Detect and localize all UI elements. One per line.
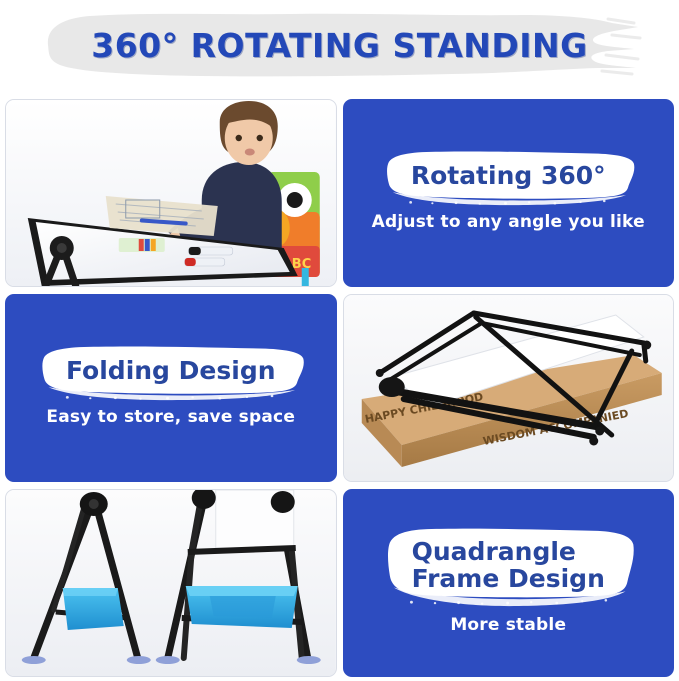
infographic-page: 360° ROTATING STANDING xyxy=(0,0,679,681)
folded-easel-on-carton-photo: HAPPY CHILDHOOD WISDOM ACCOMPANIED xyxy=(344,295,674,481)
text-panel-quadrangle: Quadrangle Frame Design More stable xyxy=(343,489,675,677)
brushstroke-heading-folding: Folding Design xyxy=(50,350,292,393)
photo-panel-child-drawing: ABC xyxy=(5,99,337,287)
brushstroke-heading-rotating: Rotating 360° xyxy=(395,155,622,198)
text-panel-folding: Folding Design Easy to store, save space xyxy=(5,294,337,482)
foot-pad-graphic xyxy=(156,656,180,664)
photo-panel-stands-with-tray xyxy=(5,489,337,677)
crayon-box-graphic xyxy=(119,238,165,252)
foot-pad-graphic xyxy=(127,656,151,664)
panel-subtitle: More stable xyxy=(450,615,566,635)
two-easel-stands-with-blue-tray-photo xyxy=(6,490,336,676)
text-panel-rotating: Rotating 360° Adjust to any angle you li… xyxy=(343,99,675,287)
panel-heading: Quadrangle Frame Design xyxy=(396,533,621,599)
hinge-knob-graphic xyxy=(378,377,404,397)
panel-heading: Rotating 360° xyxy=(395,157,622,196)
page-title: 360° ROTATING STANDING xyxy=(0,11,679,79)
panel-heading: Folding Design xyxy=(50,352,292,391)
panel-subtitle: Adjust to any angle you like xyxy=(372,212,645,232)
photo-panel-folded-on-box: HAPPY CHILDHOOD WISDOM ACCOMPANIED xyxy=(343,294,675,482)
foot-pad-graphic xyxy=(22,656,46,664)
header-banner: 360° ROTATING STANDING xyxy=(0,0,679,95)
panel-grid: ABC xyxy=(5,99,674,677)
panel-subtitle: Easy to store, save space xyxy=(46,407,295,427)
brushstroke-heading-quadrangle: Quadrangle Frame Design xyxy=(396,531,621,601)
child-drawing-at-easel-photo: ABC xyxy=(6,100,336,286)
foot-pad-graphic xyxy=(297,656,321,664)
